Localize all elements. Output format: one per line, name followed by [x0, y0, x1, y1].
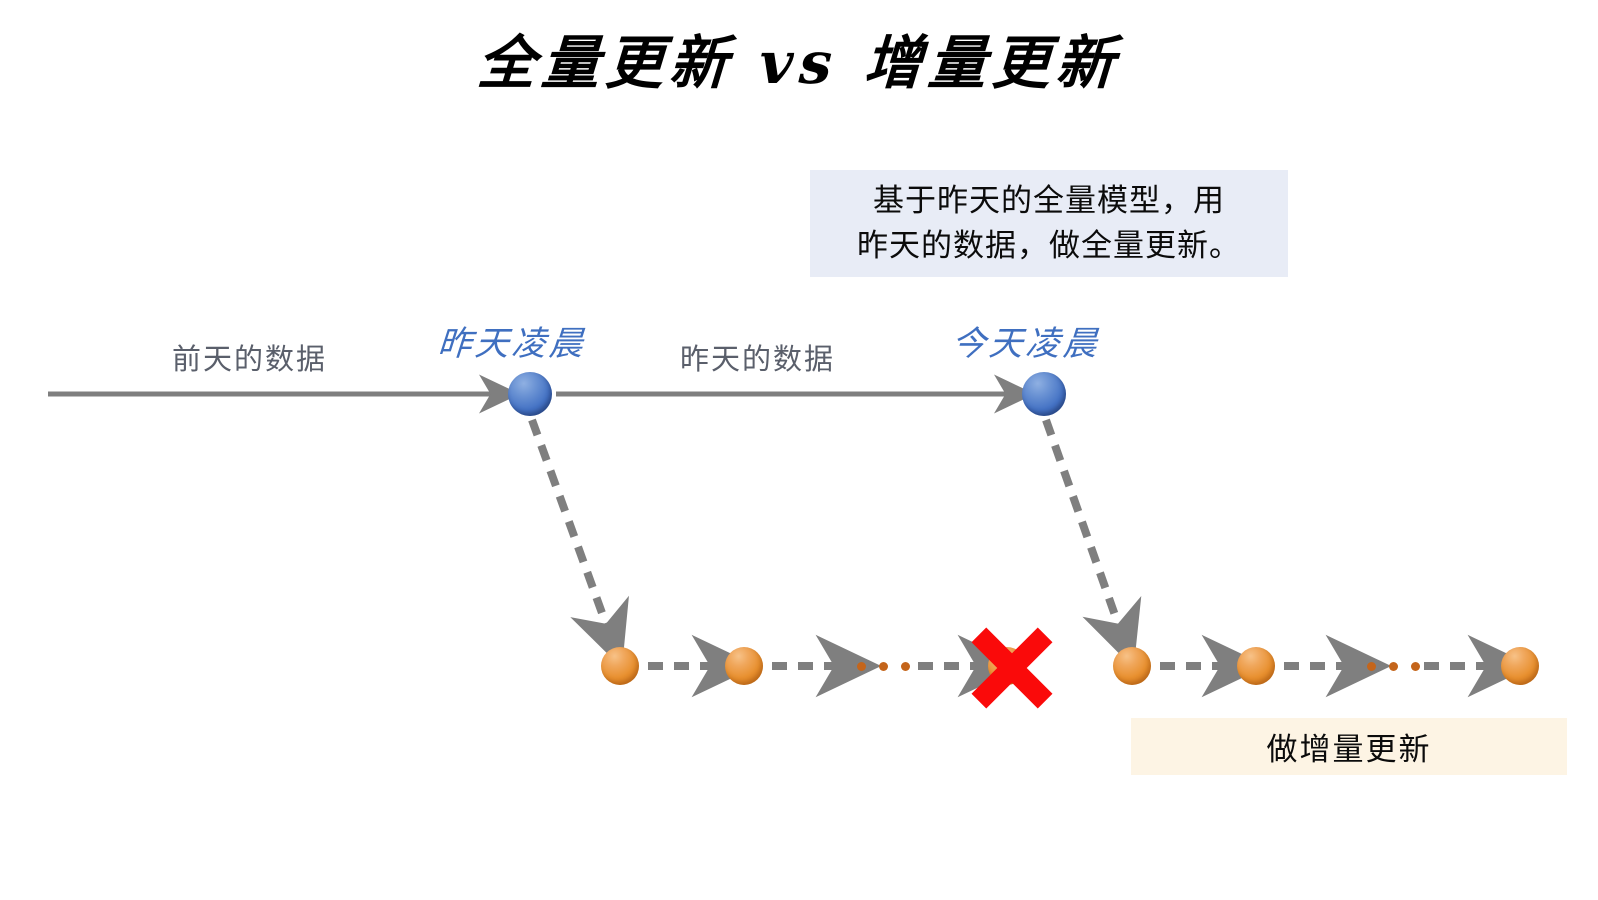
timeline-label-yesterday-data: 昨天的数据: [680, 336, 835, 378]
diagram-canvas: 全量更新 vs 增量更新 基于昨天的全量模型，用 昨天的数据，做全量更新。 做增…: [0, 0, 1598, 900]
cross-mark-icon: [966, 622, 1058, 714]
incremental-update-note-label: 做增量更新: [1267, 724, 1432, 769]
right-chain-node-3[interactable]: [1501, 647, 1539, 685]
left-chain-ellipsis-icon: [857, 662, 910, 671]
timeline-label-yesterday-dawn: 昨天凌晨: [436, 316, 587, 365]
right-chain-ellipsis-icon: [1367, 662, 1420, 671]
page-title: 全量更新 vs 增量更新: [0, 16, 1598, 100]
milestone-node-today[interactable]: [1022, 372, 1066, 416]
dashed-arrow-yesterday-to-chain: [532, 420, 610, 635]
incremental-update-note: 做增量更新: [1131, 718, 1567, 775]
full-update-note-line2: 昨天的数据，做全量更新。: [857, 224, 1241, 268]
right-chain-node-1[interactable]: [1113, 647, 1151, 685]
right-chain-node-2[interactable]: [1237, 647, 1275, 685]
left-chain-node-2[interactable]: [725, 647, 763, 685]
full-update-note: 基于昨天的全量模型，用 昨天的数据，做全量更新。: [810, 170, 1288, 277]
full-update-note-line1: 基于昨天的全量模型，用: [873, 179, 1225, 223]
timeline-label-today-dawn: 今天凌晨: [950, 316, 1101, 365]
timeline-label-day-before-yesterday-data: 前天的数据: [172, 336, 327, 378]
left-chain-node-1[interactable]: [601, 647, 639, 685]
dashed-arrow-today-to-chain: [1046, 420, 1122, 635]
milestone-node-yesterday[interactable]: [508, 372, 552, 416]
